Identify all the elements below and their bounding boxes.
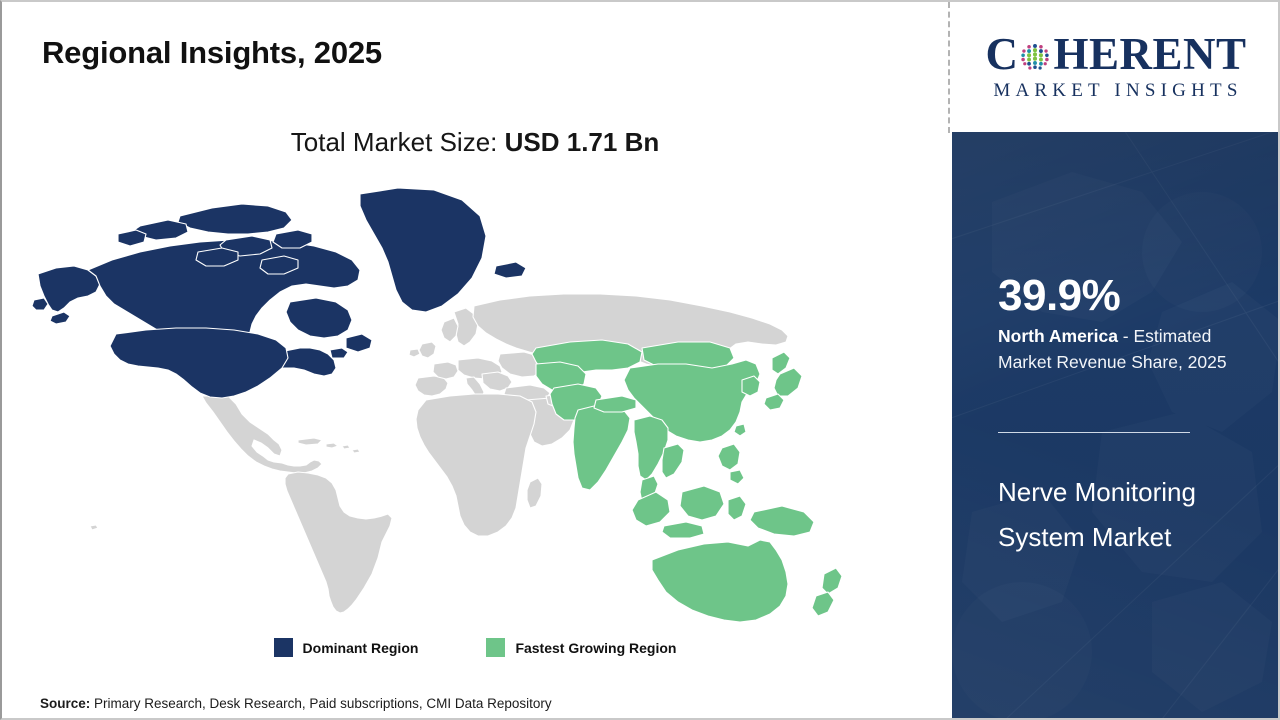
world-map-container <box>30 182 850 622</box>
page-title: Regional Insights, 2025 <box>42 35 382 71</box>
world-map-svg <box>30 182 850 622</box>
logo-tagline: MARKET INSIGHTS <box>989 80 1242 102</box>
stat-percent-value: 39.9% <box>998 274 1120 318</box>
total-market-size: Total Market Size: USD 1.71 Bn <box>2 127 948 158</box>
map-region-asia-pacific <box>532 340 842 622</box>
logo-word-herent: HERENT <box>1053 32 1246 77</box>
market-title: Nerve Monitoring System Market <box>998 470 1248 559</box>
legend-item-fastest-growing: Fastest Growing Region <box>486 638 676 657</box>
legend-swatch-fastest-growing <box>486 638 505 657</box>
stat-region-name: North America <box>998 326 1118 346</box>
market-size-value: USD 1.71 Bn <box>505 127 660 157</box>
left-content-panel: Regional Insights, 2025 Total Market Siz… <box>2 2 948 718</box>
infographic-slide: Regional Insights, 2025 Total Market Siz… <box>0 0 1280 720</box>
stat-panel: 39.9% North America - Estimated Market R… <box>952 132 1280 720</box>
dotted-globe-icon <box>1018 40 1052 74</box>
stat-description: North America - Estimated Market Revenue… <box>998 324 1260 376</box>
brand-logo: C <box>952 2 1280 132</box>
stat-panel-content: 39.9% North America - Estimated Market R… <box>998 132 1260 720</box>
legend-item-dominant: Dominant Region <box>274 638 419 657</box>
source-label: Source: <box>40 696 90 711</box>
market-size-label: Total Market Size: <box>291 127 505 157</box>
map-legend: Dominant Region Fastest Growing Region <box>2 638 948 657</box>
panel-divider <box>948 2 950 133</box>
legend-label-dominant: Dominant Region <box>303 640 419 656</box>
stat-divider-rule <box>998 432 1190 433</box>
legend-swatch-dominant <box>274 638 293 657</box>
logo-wordmark: C <box>985 32 1246 77</box>
source-note: Source: Primary Research, Desk Research,… <box>40 696 552 711</box>
legend-label-fastest-growing: Fastest Growing Region <box>515 640 676 656</box>
logo-letter-c: C <box>985 32 1018 77</box>
source-text: Primary Research, Desk Research, Paid su… <box>90 696 551 711</box>
